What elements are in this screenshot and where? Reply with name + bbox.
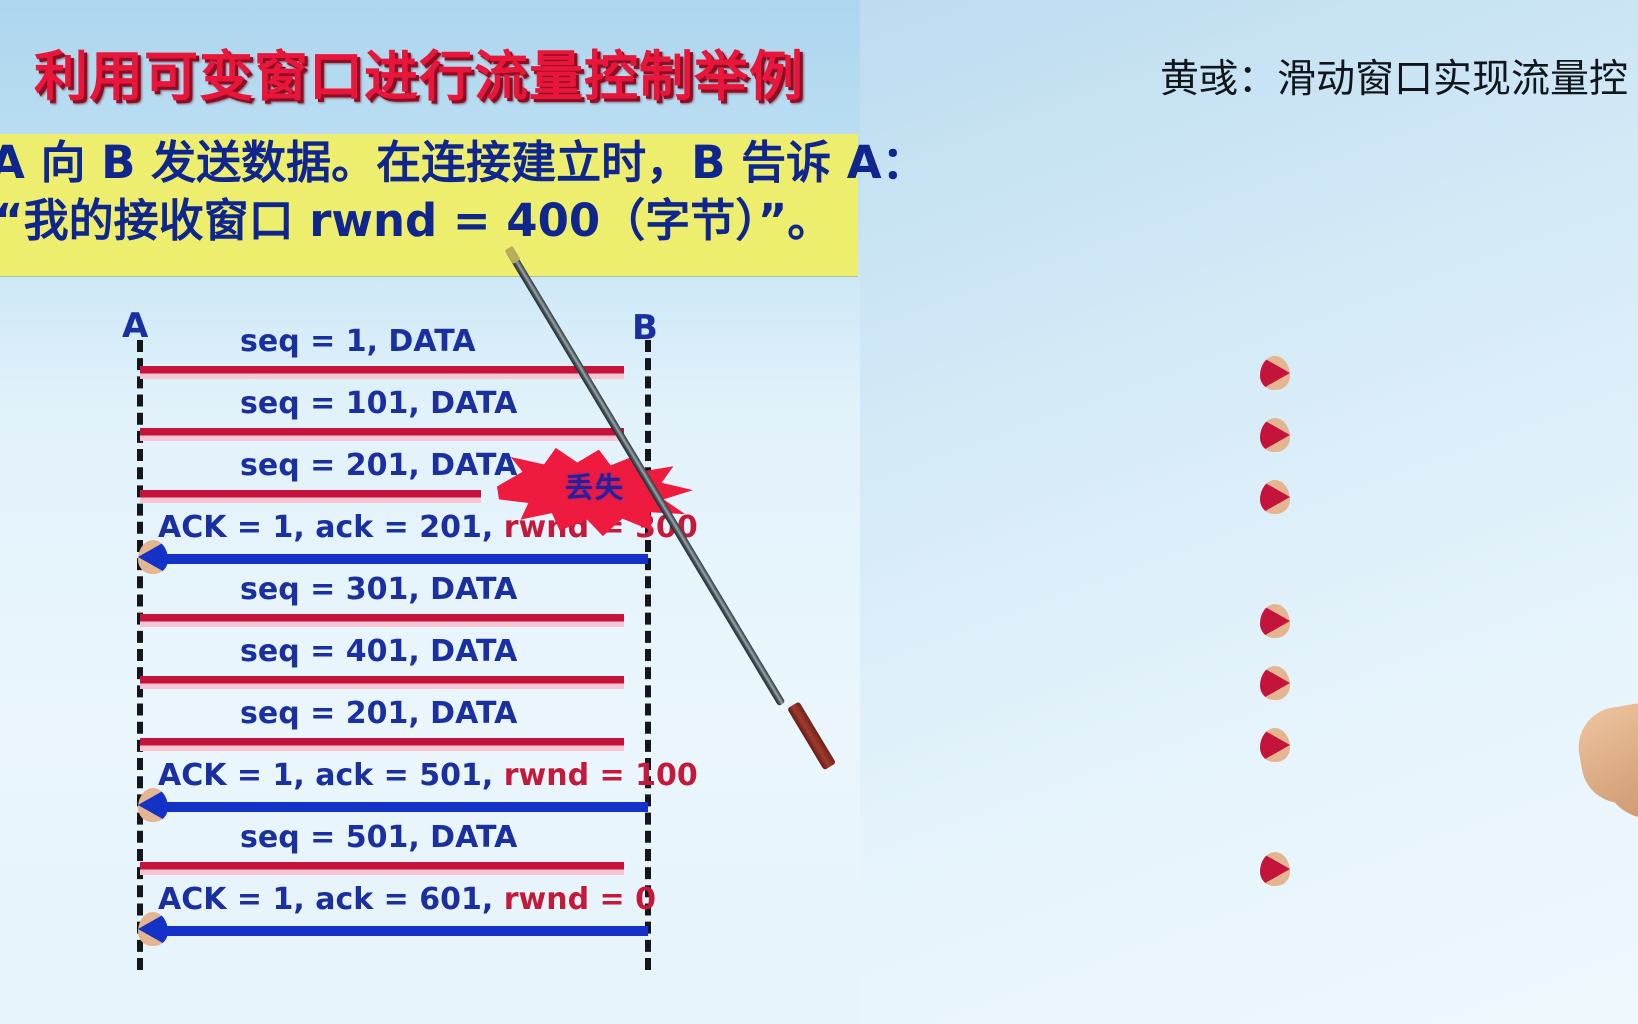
message-row: ACK = 1, ack = 501, rwnd = 100 [0, 762, 720, 824]
arrow-shaft [140, 738, 624, 751]
message-row: seq = 201, DATA [0, 700, 720, 762]
arrow-shaft [140, 676, 624, 689]
message-label: seq = 101, DATA [240, 386, 517, 421]
message-label-text: seq = 201, DATA [240, 448, 517, 483]
premise-banner: A 向 B 发送数据。在连接建立时，B 告诉 A： “我的接收窗口 rwnd =… [0, 134, 858, 276]
data-arrow [140, 738, 648, 751]
ack-arrow [140, 924, 648, 934]
message-rwnd-value: rwnd = 0 [504, 882, 656, 917]
premise-line-1: A 向 B 发送数据。在连接建立时，B 告诉 A： [0, 126, 858, 191]
packet-loss-label: 丢失 [540, 466, 650, 506]
arrow-shaft [140, 366, 624, 379]
message-row: seq = 1, DATA [0, 328, 720, 390]
sequence-diagram: A B seq = 1, DATAseq = 101, DATAseq = 20… [0, 296, 720, 976]
arrow-shaft [140, 428, 624, 441]
message-label: seq = 201, DATA [240, 696, 517, 731]
ack-arrow [140, 800, 648, 810]
message-label: seq = 1, DATA [240, 324, 476, 359]
message-row: ACK = 1, ack = 601, rwnd = 0 [0, 886, 720, 948]
message-label-text: ACK = 1, ack = 601, [158, 882, 504, 917]
data-arrow [140, 490, 505, 503]
arrow-shaft [140, 614, 624, 627]
data-arrow [140, 676, 648, 689]
message-rwnd-value: rwnd = 100 [504, 758, 698, 793]
video-frame: 利用可变窗口进行流量控制举例 黄彧：滑动窗口实现流量控 A 向 B 发送数据。在… [0, 0, 1638, 1024]
data-arrow [140, 862, 648, 875]
data-arrow [140, 366, 648, 379]
message-label-text: ACK = 1, ack = 201, [158, 510, 504, 545]
message-label: seq = 301, DATA [240, 572, 517, 607]
message-label-text: seq = 101, DATA [240, 386, 517, 421]
message-label-text: seq = 301, DATA [240, 572, 517, 607]
message-label-text: seq = 1, DATA [240, 324, 476, 359]
arrow-shaft [164, 802, 648, 812]
message-label: ACK = 1, ack = 501, rwnd = 100 [158, 758, 698, 793]
premise-line-2: “我的接收窗口 rwnd = 400（字节）”。 [0, 184, 862, 249]
arrow-shaft [164, 926, 648, 936]
message-label-text: seq = 201, DATA [240, 696, 517, 731]
message-row: seq = 401, DATA [0, 638, 720, 700]
message-label-text: ACK = 1, ack = 501, [158, 758, 504, 793]
message-label-text: seq = 401, DATA [240, 634, 517, 669]
arrow-head [138, 912, 168, 946]
arrow-shaft [164, 554, 648, 564]
ack-arrow [140, 552, 648, 562]
message-label: seq = 401, DATA [240, 634, 517, 669]
presenter-hand-left [1572, 699, 1638, 810]
message-label: ACK = 1, ack = 601, rwnd = 0 [158, 882, 656, 917]
message-label-text: seq = 501, DATA [240, 820, 517, 855]
message-row: seq = 301, DATA [0, 576, 720, 638]
arrow-head [138, 540, 168, 574]
arrow-shaft [140, 490, 481, 503]
slide-title: 利用可变窗口进行流量控制举例 [34, 32, 804, 111]
message-label: seq = 501, DATA [240, 820, 517, 855]
message-row: seq = 501, DATA [0, 824, 720, 886]
data-arrow [140, 614, 648, 627]
arrow-head [138, 788, 168, 822]
presenter [780, 0, 1638, 1024]
data-arrow [140, 428, 648, 441]
arrow-shaft [140, 862, 624, 875]
message-label: seq = 201, DATA [240, 448, 517, 483]
